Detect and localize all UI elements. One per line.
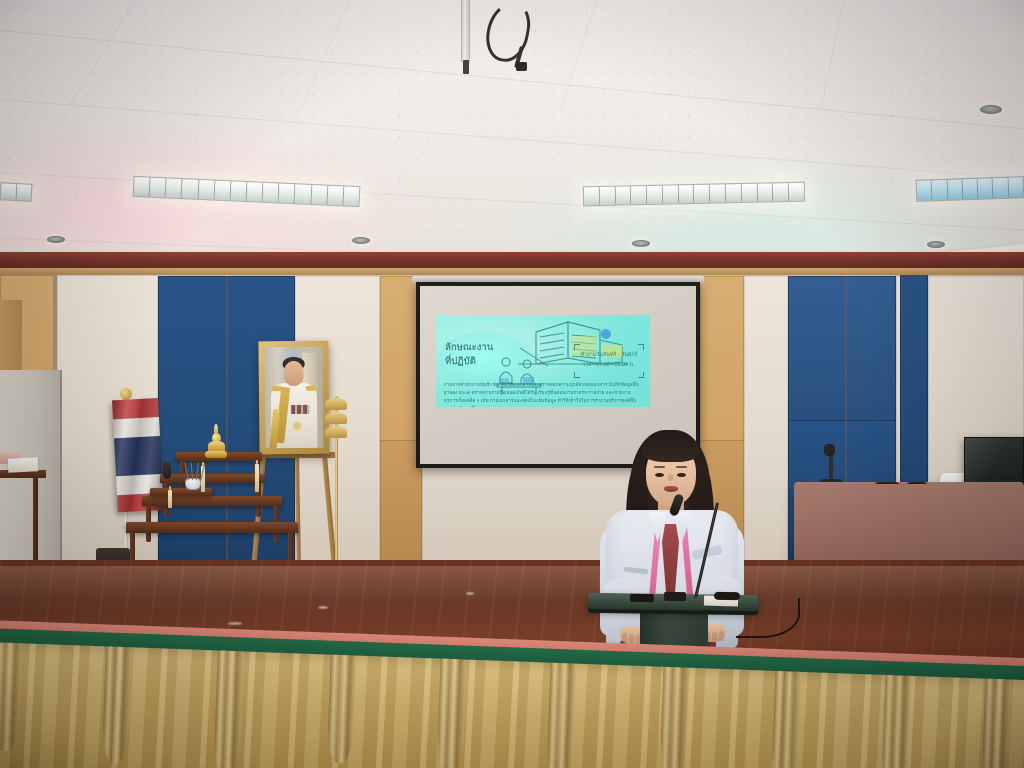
louver-cell <box>679 185 695 203</box>
louver-cell <box>166 178 183 198</box>
louver-cell <box>343 186 359 206</box>
molding-lip <box>0 268 1024 275</box>
fluorescent-troffer-light <box>0 182 32 202</box>
slide-title: ลักษณะงาน ที่ปฏิบัติ <box>445 341 531 369</box>
conference-hall-photo: ลักษณะงาน ที่ปฏิบัติ ทำงานวันจันทร์ - วั… <box>0 0 1024 768</box>
louver-cell <box>247 182 264 202</box>
altar-candle-right <box>255 464 259 492</box>
ceiling-conduit-cap <box>463 60 469 74</box>
chatra-tier <box>325 412 347 424</box>
louver-cell <box>962 179 978 200</box>
floor-glint <box>466 592 474 595</box>
portrait-star-order <box>292 421 302 431</box>
chatra-tier <box>325 426 347 438</box>
corner-mark-bl <box>574 372 580 378</box>
recessed-downlight <box>927 241 945 248</box>
louver-cell <box>694 185 710 203</box>
floor-glint <box>318 606 328 609</box>
stage-skirt <box>0 620 1024 768</box>
louver-cell <box>1 183 17 200</box>
chatra-tier <box>325 398 347 410</box>
louver-cell <box>726 184 742 202</box>
louver-cell <box>279 183 296 203</box>
louver-cell <box>327 186 344 206</box>
wall-blue-panel <box>788 276 896 426</box>
buddha-statue <box>205 424 227 458</box>
recessed-downlight <box>352 237 370 244</box>
louver-cell <box>150 178 167 198</box>
eyebrow-left <box>654 466 665 468</box>
louver-cell <box>16 184 31 201</box>
louver-cell <box>182 179 199 199</box>
wall-panel-seam <box>226 276 228 564</box>
portrait-medals <box>291 405 309 414</box>
louver-cell <box>263 183 280 203</box>
ceiling-tile-seam <box>300 0 390 110</box>
nose <box>668 474 673 481</box>
ceiling-conduit <box>461 0 470 62</box>
louver-cell <box>230 181 247 201</box>
slide-hours-time: เวลา 07.30 - 16.30 น. <box>576 360 642 370</box>
ceiling-tile-seam <box>60 0 162 121</box>
louver-cell <box>773 183 789 201</box>
portrait-epaulet-left <box>272 386 282 391</box>
slide-title-line1: ลักษณะงาน <box>445 342 493 353</box>
altar-candle-center <box>168 490 172 508</box>
louver-cell <box>978 178 994 199</box>
altar-tier-second <box>160 474 264 483</box>
skirt-pleat <box>881 675 912 768</box>
skirt-pleat <box>660 667 690 768</box>
slide-working-hours-box: ทำงานวันจันทร์ - วันศุกร์ เวลา 07.30 - 1… <box>576 346 642 376</box>
eyebrow-right <box>676 466 687 468</box>
hanging-cable-plug <box>516 62 527 71</box>
portrait-epaulet-right <box>306 386 316 391</box>
buddha-base <box>205 451 227 458</box>
altar-tier-bottom <box>126 522 298 533</box>
skirt-pleat <box>771 671 801 768</box>
wall-cream-panel <box>744 276 788 576</box>
louver-cell <box>1008 177 1023 197</box>
louver-cell <box>584 187 600 205</box>
louver-cell <box>295 184 312 204</box>
louver-cell <box>631 186 647 204</box>
flag-finial <box>120 388 132 400</box>
louver-cell <box>742 184 758 202</box>
ceiling-tile-seam <box>820 0 867 110</box>
podium-device-left[interactable] <box>630 594 654 602</box>
slide-hours-days: ทำงานวันจันทร์ - วันศุกร์ <box>576 350 642 360</box>
louver-cell <box>917 180 933 201</box>
louver-cell <box>198 180 215 200</box>
corner-mark-tr <box>638 344 644 350</box>
mouth <box>664 486 678 492</box>
paper-stack-white <box>8 457 39 473</box>
slide-body-text: งานจากสำนักงานบัญชี เช่น จัดเรียงเอกสารแ… <box>444 381 642 407</box>
louver-cell <box>134 177 151 197</box>
recessed-downlight <box>980 105 1002 114</box>
louver-cell <box>663 185 679 203</box>
table-mic-head <box>824 444 835 456</box>
altar-tier-third <box>142 496 282 506</box>
ceiling-tile-seam <box>560 0 629 110</box>
louver-cell <box>932 180 948 201</box>
recessed-downlight <box>47 236 65 243</box>
louver-cell <box>600 187 616 205</box>
altar-vase <box>163 462 171 479</box>
corner-mark-br <box>638 372 644 378</box>
podium-device-center[interactable] <box>664 592 686 601</box>
louver-cell <box>757 183 773 201</box>
louver-cell <box>647 186 663 204</box>
portrait-face <box>284 361 304 386</box>
louver-cell <box>947 179 963 200</box>
ceiling-tile-seam <box>0 96 1024 186</box>
recessed-downlight <box>632 240 650 247</box>
eye-left <box>655 473 664 477</box>
corner-mark-tl <box>574 344 580 350</box>
louver-cell <box>789 183 804 201</box>
skirt-pleat <box>546 663 577 768</box>
louver-cell <box>993 178 1009 199</box>
slide-title-line2: ที่ปฏิบัติ <box>445 355 531 369</box>
hair-fringe <box>642 436 700 462</box>
royal-portrait-frame <box>258 341 329 455</box>
royal-portrait-image <box>264 347 323 449</box>
projected-slide: ลักษณะงาน ที่ปฏิบัติ ทำงานวันจันทร์ - วั… <box>436 315 650 407</box>
louver-cell <box>710 184 726 202</box>
fluorescent-troffer-light <box>916 176 1024 202</box>
louver-cell <box>615 186 631 204</box>
gold-ceremonial-umbrella <box>331 396 341 576</box>
eye-right <box>677 473 686 477</box>
louver-cell <box>214 181 231 201</box>
louver-cell <box>311 185 328 205</box>
skirt-pleat <box>981 679 1011 768</box>
